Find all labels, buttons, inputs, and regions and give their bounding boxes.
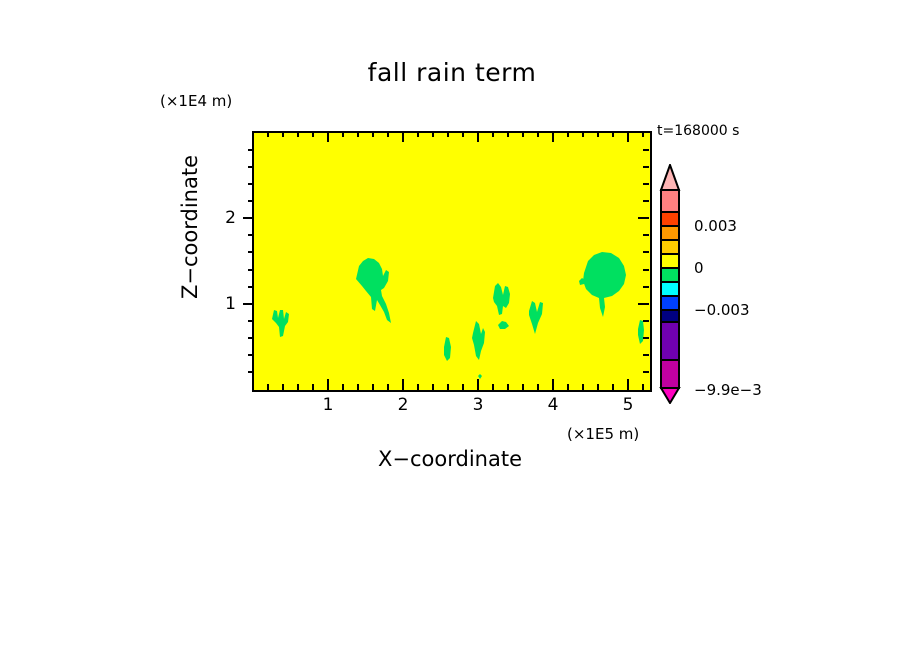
x-tick-minor bbox=[612, 384, 614, 390]
x-tick-minor bbox=[342, 384, 344, 390]
x-tick-minor bbox=[417, 384, 419, 390]
y-tick-minor bbox=[248, 251, 254, 253]
colorbar-swatch bbox=[661, 310, 679, 322]
y-tick-label: 1 bbox=[216, 294, 236, 314]
x-tick-minor-top bbox=[357, 131, 359, 137]
x-tick-minor bbox=[537, 384, 539, 390]
colorbar-swatch bbox=[661, 212, 679, 226]
y-tick-minor bbox=[248, 269, 254, 271]
y-tick-minor-right bbox=[643, 337, 649, 339]
y-axis-unit-label: (×1E4 m) bbox=[160, 92, 232, 110]
x-tick-major-top bbox=[552, 131, 554, 142]
x-tick-minor bbox=[267, 384, 269, 390]
y-tick-minor bbox=[248, 234, 254, 236]
x-tick-major-top bbox=[402, 131, 404, 142]
y-axis-title: Z−coordinate bbox=[178, 155, 202, 299]
y-tick-minor-right bbox=[643, 320, 649, 322]
x-tick-minor bbox=[642, 384, 644, 390]
x-tick-minor bbox=[447, 384, 449, 390]
x-tick-minor-top bbox=[597, 131, 599, 137]
y-tick-minor bbox=[248, 183, 254, 185]
x-tick-minor bbox=[297, 384, 299, 390]
colorbar-swatch bbox=[661, 254, 679, 268]
y-tick-minor-right bbox=[643, 149, 649, 151]
x-tick-major bbox=[327, 379, 329, 390]
y-tick-minor bbox=[248, 200, 254, 202]
colorbar-swatch bbox=[661, 268, 679, 282]
x-tick-minor-top bbox=[582, 131, 584, 137]
x-tick-minor-top bbox=[282, 131, 284, 137]
x-tick-minor bbox=[597, 384, 599, 390]
x-tick-label: 4 bbox=[548, 395, 559, 415]
x-tick-minor bbox=[462, 384, 464, 390]
y-tick-label: 2 bbox=[216, 208, 236, 228]
y-tick-minor-right bbox=[643, 286, 649, 288]
x-tick-minor bbox=[582, 384, 584, 390]
x-tick-major-top bbox=[627, 131, 629, 142]
colorbar-swatch bbox=[661, 190, 679, 212]
x-tick-minor-top bbox=[462, 131, 464, 137]
colorbar: 0.003 0 −0.003 −9.9e−3 bbox=[658, 164, 682, 404]
x-tick-minor-top bbox=[567, 131, 569, 137]
x-tick-label: 3 bbox=[473, 395, 484, 415]
y-tick-major-right bbox=[638, 303, 649, 305]
x-tick-minor bbox=[282, 384, 284, 390]
x-tick-major bbox=[477, 379, 479, 390]
colorbar-label: −0.003 bbox=[694, 301, 750, 319]
colorbar-arrow-bottom bbox=[661, 388, 679, 403]
x-tick-label: 2 bbox=[398, 395, 409, 415]
x-tick-major-top bbox=[477, 131, 479, 142]
x-tick-minor-top bbox=[267, 131, 269, 137]
x-tick-label: 1 bbox=[323, 395, 334, 415]
x-tick-minor bbox=[507, 384, 509, 390]
colorbar-swatch bbox=[661, 282, 679, 296]
x-tick-minor-top bbox=[492, 131, 494, 137]
x-tick-major bbox=[627, 379, 629, 390]
colorbar-svg bbox=[658, 164, 682, 404]
x-tick-minor-top bbox=[507, 131, 509, 137]
y-tick-minor-right bbox=[643, 234, 649, 236]
colorbar-swatch bbox=[661, 360, 679, 388]
colorbar-swatch bbox=[661, 226, 679, 240]
colorbar-swatch bbox=[661, 322, 679, 360]
y-tick-minor-right bbox=[643, 200, 649, 202]
y-tick-minor-right bbox=[643, 354, 649, 356]
x-tick-minor-top bbox=[537, 131, 539, 137]
x-axis-title: X−coordinate bbox=[252, 447, 648, 471]
y-tick-minor bbox=[248, 286, 254, 288]
x-tick-label: 5 bbox=[623, 395, 634, 415]
y-tick-minor-right bbox=[643, 183, 649, 185]
x-tick-minor-top bbox=[522, 131, 524, 137]
contour-plot-area bbox=[252, 131, 652, 392]
y-tick-minor-right bbox=[643, 166, 649, 168]
x-tick-minor bbox=[522, 384, 524, 390]
x-tick-minor bbox=[492, 384, 494, 390]
y-tick-minor bbox=[248, 337, 254, 339]
colorbar-arrow-top bbox=[661, 165, 679, 190]
y-tick-minor-right bbox=[643, 251, 649, 253]
x-tick-minor bbox=[387, 384, 389, 390]
x-tick-major bbox=[402, 379, 404, 390]
colorbar-label: 0.003 bbox=[694, 217, 737, 235]
x-tick-minor-top bbox=[312, 131, 314, 137]
y-tick-major bbox=[243, 303, 254, 305]
y-tick-minor bbox=[248, 166, 254, 168]
x-tick-minor-top bbox=[432, 131, 434, 137]
x-tick-minor bbox=[312, 384, 314, 390]
x-tick-minor-top bbox=[612, 131, 614, 137]
x-tick-minor-top bbox=[642, 131, 644, 137]
figure-canvas: fall rain term (×1E4 m) t=168000 s bbox=[0, 0, 904, 654]
x-tick-major bbox=[552, 379, 554, 390]
y-tick-major-right bbox=[638, 217, 649, 219]
time-annotation: t=168000 s bbox=[657, 123, 739, 139]
x-tick-minor bbox=[432, 384, 434, 390]
y-tick-major bbox=[243, 217, 254, 219]
x-tick-minor-top bbox=[417, 131, 419, 137]
y-tick-minor bbox=[248, 149, 254, 151]
x-tick-minor-top bbox=[387, 131, 389, 137]
x-tick-minor-top bbox=[372, 131, 374, 137]
contour-field bbox=[254, 133, 650, 390]
x-tick-minor bbox=[372, 384, 374, 390]
page-title: fall rain term bbox=[0, 58, 904, 87]
x-tick-minor bbox=[357, 384, 359, 390]
x-axis-unit-label: (×1E5 m) bbox=[567, 425, 639, 443]
x-tick-minor-top bbox=[447, 131, 449, 137]
y-tick-minor-right bbox=[643, 269, 649, 271]
colorbar-swatch bbox=[661, 296, 679, 310]
colorbar-label: −9.9e−3 bbox=[694, 381, 762, 399]
x-tick-major-top bbox=[327, 131, 329, 142]
colorbar-swatch bbox=[661, 240, 679, 254]
x-tick-minor bbox=[567, 384, 569, 390]
x-tick-minor-top bbox=[297, 131, 299, 137]
y-tick-minor bbox=[248, 354, 254, 356]
colorbar-label: 0 bbox=[694, 259, 704, 277]
y-tick-minor-right bbox=[643, 371, 649, 373]
y-tick-minor bbox=[248, 371, 254, 373]
y-tick-minor bbox=[248, 320, 254, 322]
x-tick-minor-top bbox=[342, 131, 344, 137]
